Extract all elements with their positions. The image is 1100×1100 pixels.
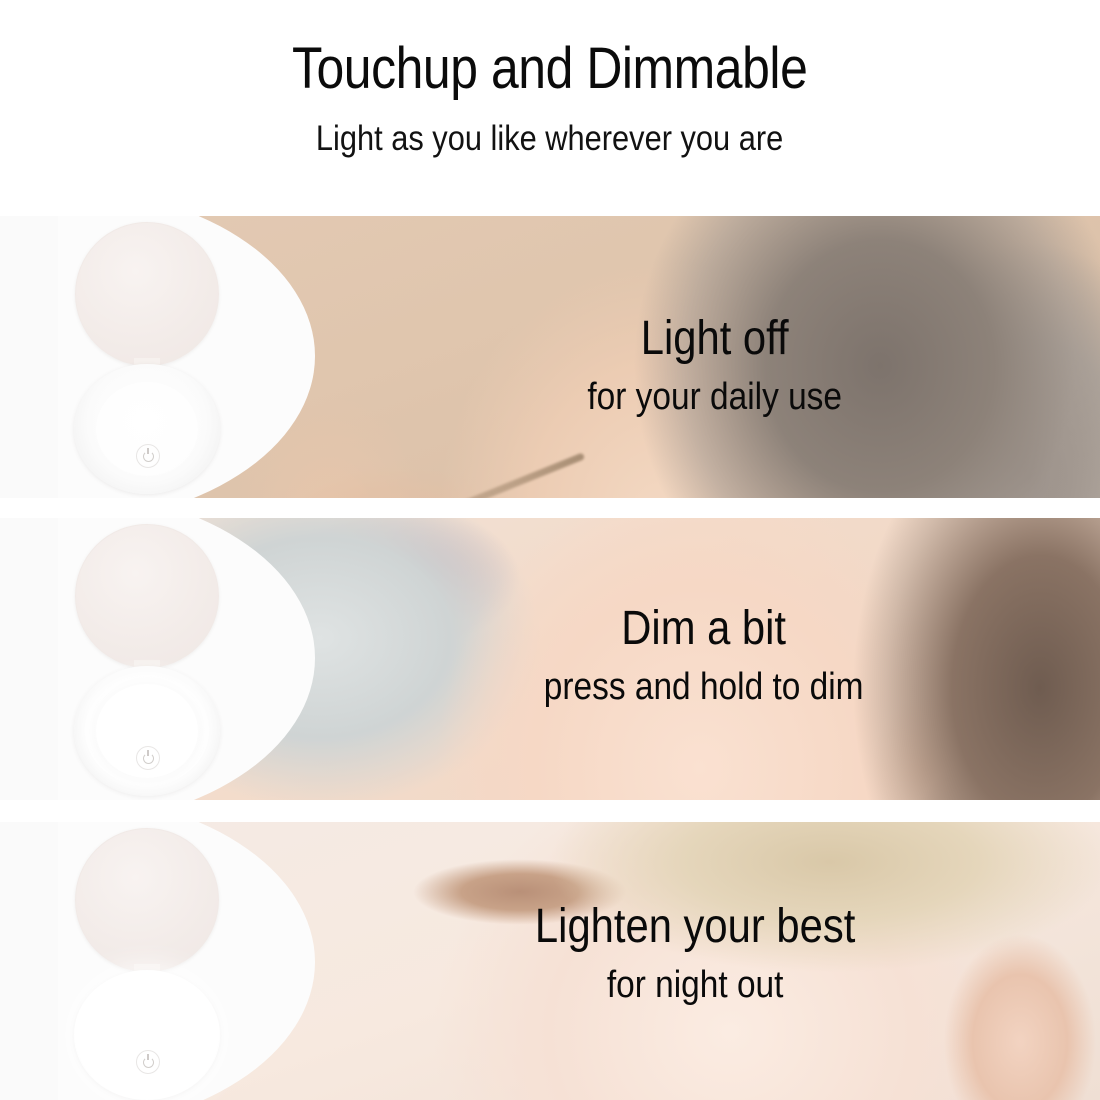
- panel-divider: [0, 498, 1100, 518]
- led-compact-mirror-full[interactable]: [74, 828, 220, 1100]
- mirror-lid: [75, 524, 219, 668]
- panel-left-fill: [0, 518, 58, 800]
- power-icon: [143, 753, 154, 764]
- feature-panel-light-off: Light off for your daily use: [0, 216, 1100, 498]
- led-compact-mirror-dim[interactable]: [74, 524, 220, 796]
- panel-divider: [0, 800, 1100, 822]
- led-compact-mirror-off[interactable]: [74, 222, 220, 494]
- feature-panel-lighten-your-best: Lighten your best for night out: [0, 822, 1100, 1100]
- page-header: Touchup and Dimmable Light as you like w…: [0, 0, 1100, 216]
- power-icon: [143, 1057, 154, 1068]
- panel-left-fill: [0, 822, 58, 1100]
- mirror-lid: [75, 828, 219, 972]
- panel-left-fill: [0, 216, 58, 498]
- mirror-lid: [75, 222, 219, 366]
- eyebrow-brush: [425, 452, 585, 498]
- power-icon: [143, 451, 154, 462]
- feature-panel-dim-a-bit: Dim a bit press and hold to dim: [0, 518, 1100, 800]
- power-button[interactable]: [136, 1050, 160, 1074]
- page-subtitle: Light as you like wherever you are: [316, 118, 783, 160]
- power-button[interactable]: [136, 746, 160, 770]
- page-title: Touchup and Dimmable: [292, 38, 807, 100]
- power-button[interactable]: [136, 444, 160, 468]
